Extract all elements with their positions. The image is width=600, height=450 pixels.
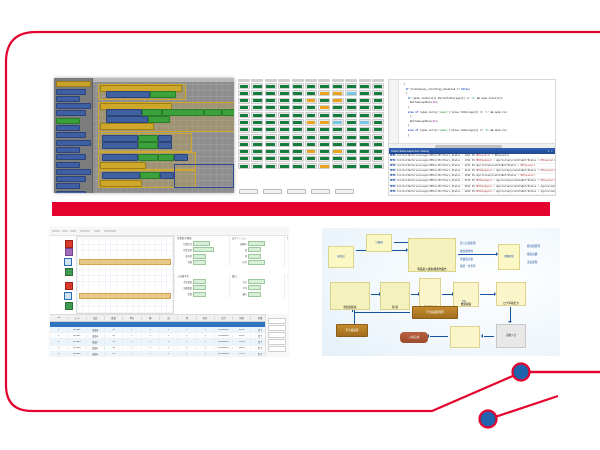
spreadsheet-toolbar[interactable] <box>50 228 288 236</box>
slot-cell-10-0[interactable] <box>238 156 250 162</box>
table-header-cell-6[interactable]: 段 <box>160 316 178 320</box>
slot-cell-5-7[interactable] <box>332 119 344 125</box>
slot-cell-9-10[interactable] <box>372 149 384 155</box>
form-field-input[interactable] <box>193 285 206 290</box>
slot-cell-8-9[interactable] <box>359 141 371 147</box>
slot-cell-8-3[interactable] <box>278 141 290 147</box>
slot-cell-fill <box>266 128 275 131</box>
block-call-component-d[interactable] <box>102 172 140 179</box>
table-cell: 3 <box>50 341 68 343</box>
block-foreach[interactable] <box>100 123 154 130</box>
flow-node-supplier-truck[interactable]: 供給調達先 <box>330 282 370 310</box>
side-button-1[interactable] <box>268 325 286 331</box>
slot-row <box>238 105 384 111</box>
table-header-cell-9[interactable]: 日付 <box>215 316 233 320</box>
table-cell: 2 <box>142 335 160 337</box>
palette-block-10[interactable] <box>56 154 86 160</box>
palette-block-4[interactable] <box>56 110 86 116</box>
form-group-3: 集計合計平均最大 <box>229 274 286 298</box>
block-arg-a1[interactable] <box>138 135 158 142</box>
table-header-cell-10[interactable]: 時刻 <box>233 316 251 320</box>
block-call-component-c[interactable] <box>102 154 138 161</box>
slot-cell-0-1[interactable] <box>251 83 263 89</box>
slot-cell-5-3[interactable] <box>278 119 290 125</box>
slot-cell-fill <box>333 150 342 153</box>
legend-item-4 <box>335 189 354 194</box>
block-arg-c3[interactable] <box>174 154 188 161</box>
block-join-text[interactable] <box>162 109 204 116</box>
slot-row <box>238 83 384 89</box>
slot-cell-2-4[interactable] <box>292 98 304 104</box>
table-header-cell-0[interactable]: No <box>50 317 68 319</box>
slot-cell-6-9[interactable] <box>359 127 371 133</box>
slot-cell-fill <box>240 99 249 102</box>
slot-cell-0-8[interactable] <box>345 83 357 89</box>
slot-col-header-2 <box>265 79 277 82</box>
slot-cell-9-5[interactable] <box>305 149 317 155</box>
slot-cell-6-5[interactable] <box>305 127 317 133</box>
table-side-buttons[interactable] <box>265 314 288 356</box>
palette-block-0[interactable] <box>56 81 91 87</box>
slot-cell-4-4[interactable] <box>292 112 304 118</box>
palette-block-5[interactable] <box>56 118 80 124</box>
slot-cell-10-6[interactable] <box>318 156 330 162</box>
table-header-cell-2[interactable]: 品名 <box>87 316 105 320</box>
block-if-test[interactable] <box>106 109 142 116</box>
flow-node-inspection-station[interactable]: 現品受入検査/検査作業台 <box>408 238 456 272</box>
slot-cell-1-1[interactable] <box>251 90 263 96</box>
slot-cell-2-6[interactable] <box>318 98 330 104</box>
slot-cell-9-2[interactable] <box>265 149 277 155</box>
table-cell: 1 <box>178 329 196 331</box>
palette-block-9[interactable] <box>56 147 80 153</box>
slot-cell-4-6[interactable] <box>318 112 330 118</box>
slot-cell-6-6[interactable] <box>318 127 330 133</box>
table-header-cell-5[interactable]: 棚 <box>142 316 160 320</box>
form-field-input[interactable] <box>193 247 214 252</box>
slot-cell-1-4[interactable] <box>292 90 304 96</box>
form-field-input[interactable] <box>193 254 206 259</box>
slot-cell-0-6[interactable] <box>318 83 330 89</box>
slot-cell-4-10[interactable] <box>372 112 384 118</box>
form-field-label: 予定数量 <box>287 280 288 284</box>
palette-block-3[interactable] <box>56 103 91 109</box>
slot-cell-fill <box>280 128 289 131</box>
slot-cell-11-6[interactable] <box>318 163 330 169</box>
slot-cell-8-2[interactable] <box>265 141 277 147</box>
form-field-input[interactable] <box>248 285 261 290</box>
slot-cell-9-3[interactable] <box>278 149 290 155</box>
arrow-unload-to-doc <box>411 294 418 295</box>
slot-cell-fill <box>347 92 356 95</box>
arrow-scan-to-putaway <box>484 336 494 337</box>
flow-node-putaway[interactable] <box>450 326 480 348</box>
log-console: Output Show output from: Debug ▾ × MPMC … <box>389 148 555 195</box>
slot-cell-3-1[interactable] <box>251 105 263 111</box>
slot-cell-2-2[interactable] <box>265 98 277 104</box>
table-row[interactable]: 5A-1005部品E25122112019/04/0211:05完了- <box>50 352 288 356</box>
form-field-input[interactable] <box>193 292 206 297</box>
slot-cell-1-9[interactable] <box>359 90 371 96</box>
slot-cell-3-10[interactable] <box>372 105 384 111</box>
node-purple-station[interactable] <box>65 248 73 256</box>
block-arg-c2[interactable] <box>158 154 174 161</box>
slot-cell-5-2[interactable] <box>265 119 277 125</box>
slot-row <box>238 90 384 96</box>
form-row: 列 <box>232 254 286 259</box>
slot-cell-2-0[interactable] <box>238 98 250 104</box>
form-field-input[interactable] <box>248 260 265 265</box>
slot-cell-9-4[interactable] <box>292 149 304 155</box>
slot-cell-fill <box>360 165 369 168</box>
table-header-cell-7[interactable]: 列 <box>178 316 196 320</box>
slot-cell-4-9[interactable] <box>359 112 371 118</box>
slot-cell-6-3[interactable] <box>278 127 290 133</box>
form-field-input[interactable] <box>248 254 261 259</box>
flow-node-inbound-done[interactable]: 入庫完成 <box>400 332 428 343</box>
slot-cell-5-9[interactable] <box>359 119 371 125</box>
slot-cell-1-2[interactable] <box>265 90 277 96</box>
slot-cell-6-10[interactable] <box>372 127 384 133</box>
slot-status-grid-screenshot <box>237 78 385 196</box>
side-button-3[interactable] <box>268 339 286 345</box>
slot-cell-3-6[interactable] <box>318 105 330 111</box>
form-field-input[interactable] <box>248 292 261 297</box>
block-close-screen[interactable] <box>100 162 146 169</box>
palette-block-6[interactable] <box>56 125 80 131</box>
slot-cell-5-8[interactable] <box>345 119 357 125</box>
log-line-7[interactable]: MPMC InitCellReferenceLogic/MPCellPC/Sto… <box>389 190 555 195</box>
block-set-global[interactable] <box>106 91 150 98</box>
slot-cell-1-3[interactable] <box>278 90 290 96</box>
table-cell: 1 <box>197 341 215 343</box>
slot-cell-2-8[interactable] <box>345 98 357 104</box>
slot-cell-1-10[interactable] <box>372 90 384 96</box>
flow-node-defect-zone[interactable]: 不合格品整理区 <box>412 306 458 319</box>
slot-cell-11-10[interactable] <box>372 163 384 169</box>
slot-cell-9-7[interactable] <box>332 149 344 155</box>
form-field-input[interactable] <box>193 241 210 246</box>
slot-cell-3-4[interactable] <box>292 105 304 111</box>
slot-cell-7-8[interactable] <box>345 134 357 140</box>
slot-cell-7-6[interactable] <box>318 134 330 140</box>
slot-cell-3-7[interactable] <box>332 105 344 111</box>
table-header-cell-1[interactable]: コード <box>68 316 86 320</box>
form-field-input[interactable] <box>248 279 265 284</box>
slot-cell-9-9[interactable] <box>359 149 371 155</box>
legend-swatch <box>337 191 353 193</box>
table-header-cell-3[interactable]: 数量 <box>105 316 123 320</box>
slot-cell-1-0[interactable] <box>238 90 250 96</box>
node-red-signal-2[interactable] <box>65 282 73 290</box>
side-button-0[interactable] <box>268 318 286 324</box>
slot-cell-0-10[interactable] <box>372 83 384 89</box>
form-field-input[interactable] <box>248 241 265 246</box>
slot-cell-7-10[interactable] <box>372 134 384 140</box>
table-cell: 1 <box>160 347 178 349</box>
slot-cell-11-8[interactable] <box>345 163 357 169</box>
flow-node-operator[interactable]: 検査員 <box>328 246 354 268</box>
table-cell: 1 <box>142 329 160 331</box>
slot-cell-7-0[interactable] <box>238 134 250 140</box>
slot-cell-2-1[interactable] <box>251 98 263 104</box>
slot-cell-11-0[interactable] <box>238 163 250 169</box>
block-tail[interactable] <box>100 180 142 187</box>
slot-cell-10-7[interactable] <box>332 156 344 162</box>
code-editor-screenshot: {if (bottomLoop_startFlag_disabled == fa… <box>388 79 556 196</box>
slot-cell-10-5[interactable] <box>305 156 317 162</box>
slot-cell-fill <box>374 150 383 153</box>
slot-cell-4-3[interactable] <box>278 112 290 118</box>
table-header-cell-4[interactable]: 単位 <box>123 316 141 320</box>
slot-cell-8-4[interactable] <box>292 141 304 147</box>
arrow-scale-to-station <box>394 242 408 243</box>
slot-cell-3-0[interactable] <box>238 105 250 111</box>
slot-cell-1-6[interactable] <box>318 90 330 96</box>
slot-grid-rows[interactable] <box>238 83 384 169</box>
slot-cell-10-1[interactable] <box>251 156 263 162</box>
block-compare[interactable] <box>142 109 162 116</box>
form-row: 作業区分 <box>177 241 231 246</box>
table-cell: 1 <box>178 335 196 337</box>
slot-cell-3-2[interactable] <box>265 105 277 111</box>
slot-cell-5-5[interactable] <box>305 119 317 125</box>
block-arg-d1[interactable] <box>140 172 160 179</box>
slot-cell-4-0[interactable] <box>238 112 250 118</box>
slot-cell-7-3[interactable] <box>278 134 290 140</box>
code-text-area[interactable]: {if (bottomLoop_startFlag_disabled == fa… <box>389 80 555 143</box>
slot-cell-2-5[interactable] <box>305 98 317 104</box>
block-set-property[interactable] <box>106 116 148 123</box>
block-arg-a2[interactable] <box>158 135 172 142</box>
slot-cell-5-10[interactable] <box>372 119 384 125</box>
slot-cell-fill <box>280 143 289 146</box>
slot-cell-11-5[interactable] <box>305 163 317 169</box>
schedule-bar-1[interactable] <box>79 259 171 265</box>
block-arg-b2[interactable] <box>158 142 172 149</box>
table-header-cell-8[interactable]: 区分 <box>197 316 215 320</box>
node-green-status-2[interactable] <box>65 302 73 310</box>
slot-cell-10-9[interactable] <box>359 156 371 162</box>
slot-cell-2-3[interactable] <box>278 98 290 104</box>
slot-cell-10-10[interactable] <box>372 156 384 162</box>
block-get-variable[interactable] <box>148 116 170 123</box>
slot-cell-0-3[interactable] <box>278 83 290 89</box>
slot-cell-4-1[interactable] <box>251 112 263 118</box>
palette-block-15[interactable] <box>56 191 86 193</box>
palette-block-11[interactable] <box>56 162 80 168</box>
slot-cell-6-4[interactable] <box>292 127 304 133</box>
slot-cell-3-8[interactable] <box>345 105 357 111</box>
block-call-component-b[interactable] <box>102 142 138 149</box>
node-blue-station-2[interactable] <box>64 292 72 300</box>
form-field-input[interactable] <box>248 247 261 252</box>
block-value-call[interactable] <box>150 91 176 98</box>
slot-cell-2-10[interactable] <box>372 98 384 104</box>
slot-cell-5-4[interactable] <box>292 119 304 125</box>
slot-cell-4-7[interactable] <box>332 112 344 118</box>
palette-block-12[interactable] <box>56 169 91 175</box>
block-arg-b1[interactable] <box>138 142 158 149</box>
slot-cell-9-0[interactable] <box>238 149 250 155</box>
slot-cell-9-1[interactable] <box>251 149 263 155</box>
table-cell: 部品C <box>87 340 105 344</box>
slot-cell-fill <box>333 136 342 139</box>
slot-cell-7-4[interactable] <box>292 134 304 140</box>
form-field-label: 差異 <box>177 292 192 296</box>
slot-cell-fill <box>307 92 316 95</box>
slot-cell-fill <box>360 121 369 124</box>
slot-cell-10-3[interactable] <box>278 156 290 162</box>
slot-cell-fill <box>253 150 262 153</box>
slot-cell-0-2[interactable] <box>265 83 277 89</box>
table-cell: 20 <box>105 335 123 337</box>
slot-cell-6-2[interactable] <box>265 127 277 133</box>
slot-cell-8-5[interactable] <box>305 141 317 147</box>
block-number[interactable] <box>204 109 222 116</box>
slot-cell-fill <box>333 99 342 102</box>
slot-cell-7-9[interactable] <box>359 134 371 140</box>
form-field-input[interactable] <box>193 260 206 265</box>
slot-cell-fill <box>307 106 316 109</box>
table-cell: A-1003 <box>68 341 86 343</box>
palette-block-13[interactable] <box>56 176 86 182</box>
flow-node-barcode-scan[interactable]: 実績入力 <box>496 324 526 348</box>
slot-cell-6-0[interactable] <box>238 127 250 133</box>
slot-cell-fill <box>360 143 369 146</box>
slot-cell-3-9[interactable] <box>359 105 371 111</box>
slot-cell-4-2[interactable] <box>265 112 277 118</box>
node-red-signal[interactable] <box>65 240 73 248</box>
slot-cell-2-9[interactable] <box>359 98 371 104</box>
slot-col-header-7 <box>332 79 344 82</box>
block-call-component-a[interactable] <box>102 135 138 142</box>
slot-cell-10-4[interactable] <box>292 156 304 162</box>
slot-cell-fill <box>240 114 249 117</box>
log-console-controls[interactable]: ▾ × <box>548 150 553 153</box>
slot-cell-7-2[interactable] <box>265 134 277 140</box>
slot-cell-9-6[interactable] <box>318 149 330 155</box>
slot-cell-0-9[interactable] <box>359 83 371 89</box>
table-cell: 2019/04/01 <box>215 335 233 337</box>
slot-cell-fill <box>293 92 302 95</box>
slot-cell-6-1[interactable] <box>251 127 263 133</box>
block-arg-c1[interactable] <box>138 154 158 161</box>
form-field-input[interactable] <box>193 279 206 284</box>
flow-node-archive[interactable]: 書類保管 <box>498 244 520 270</box>
palette-block-14[interactable] <box>56 183 80 189</box>
slot-cell-6-7[interactable] <box>332 127 344 133</box>
slot-grid-legend <box>239 189 354 194</box>
slot-cell-9-8[interactable] <box>345 149 357 155</box>
slot-cell-10-2[interactable] <box>265 156 277 162</box>
slot-cell-4-8[interactable] <box>345 112 357 118</box>
slot-cell-1-5[interactable] <box>305 90 317 96</box>
flow-note-label-7: NG <box>462 300 466 303</box>
slot-cell-10-8[interactable] <box>345 156 357 162</box>
table-body[interactable]: 1A-1001部品A10111112019/04/0108:15完了-2A-10… <box>50 327 288 356</box>
slot-cell-0-7[interactable] <box>332 83 344 89</box>
slot-grid-column-headers <box>238 79 384 82</box>
form-row: 担当者 <box>287 254 288 259</box>
palette-block-8[interactable] <box>56 140 91 146</box>
blocks-palette[interactable] <box>54 78 93 193</box>
flow-node-unload[interactable]: 荷 受 <box>380 282 410 310</box>
slot-cell-11-4[interactable] <box>292 163 304 169</box>
slot-cell-8-0[interactable] <box>238 141 250 147</box>
slot-cell-fill <box>333 143 342 146</box>
schedule-bar-2[interactable] <box>79 293 171 299</box>
slot-cell-11-7[interactable] <box>332 163 344 169</box>
slot-cell-8-8[interactable] <box>345 141 357 147</box>
slot-cell-7-1[interactable] <box>251 134 263 140</box>
slot-cell-0-0[interactable] <box>238 83 250 89</box>
palette-block-7[interactable] <box>56 132 86 138</box>
flow-node-barcode-label[interactable]: ロケ等報出力 <box>496 282 526 306</box>
slot-cell-1-8[interactable] <box>345 90 357 96</box>
slot-cell-8-6[interactable] <box>318 141 330 147</box>
form-row: 差異 <box>287 292 288 297</box>
slot-cell-11-9[interactable] <box>359 163 371 169</box>
slot-cell-7-7[interactable] <box>332 134 344 140</box>
table-cell: 部品D <box>87 346 105 350</box>
slot-cell-4-5[interactable] <box>305 112 317 118</box>
slot-cell-fill <box>266 114 275 117</box>
palette-block-1[interactable] <box>56 89 86 95</box>
table-cell: 1 <box>123 335 141 337</box>
slot-cell-5-1[interactable] <box>251 119 263 125</box>
slot-cell-3-5[interactable] <box>305 105 317 111</box>
slot-cell-6-8[interactable] <box>345 127 357 133</box>
node-blue-station-1[interactable] <box>64 258 72 266</box>
slot-cell-8-10[interactable] <box>372 141 384 147</box>
slot-cell-fill <box>347 136 356 139</box>
slot-cell-11-1[interactable] <box>251 163 263 169</box>
slot-cell-0-5[interactable] <box>305 83 317 89</box>
slot-cell-fill <box>280 114 289 117</box>
block-lookup[interactable] <box>222 109 234 116</box>
slot-cell-fill <box>293 85 302 88</box>
side-button-4[interactable] <box>268 346 286 352</box>
node-green-status[interactable] <box>65 268 73 276</box>
schedule-grid[interactable] <box>76 236 174 314</box>
flow-node-scale[interactable]: 計量器 <box>366 234 392 252</box>
slot-cell-fill <box>253 121 262 124</box>
flow-node-defect-store[interactable]: 不合格品庫 <box>336 324 368 337</box>
side-button-2[interactable] <box>268 332 286 338</box>
slot-cell-2-7[interactable] <box>332 98 344 104</box>
block-arg-d2[interactable] <box>160 172 174 179</box>
slot-cell-fill <box>280 157 289 160</box>
slot-cell-3-3[interactable] <box>278 105 290 111</box>
slot-cell-1-7[interactable] <box>332 90 344 96</box>
slot-cell-fill <box>333 128 342 131</box>
slot-cell-8-1[interactable] <box>251 141 263 147</box>
form-group-0: 作業指示情報作業区分作業日時担当者状態 <box>174 236 231 266</box>
slot-cell-0-4[interactable] <box>292 83 304 89</box>
slot-cell-11-2[interactable] <box>265 163 277 169</box>
arrow-riser-cap <box>352 310 353 312</box>
slot-cell-fill <box>280 85 289 88</box>
flow-node-quantity-check[interactable]: 数量検査 <box>453 282 479 307</box>
slot-cell-5-0[interactable] <box>238 119 250 125</box>
slot-cell-7-5[interactable] <box>305 134 317 140</box>
code-lines: {if (bottomLoop_startFlag_disabled == fa… <box>399 83 553 138</box>
slot-cell-11-3[interactable] <box>278 163 290 169</box>
slot-cell-5-6[interactable] <box>318 119 330 125</box>
slot-cell-8-7[interactable] <box>332 141 344 147</box>
palette-block-2[interactable] <box>56 96 80 102</box>
